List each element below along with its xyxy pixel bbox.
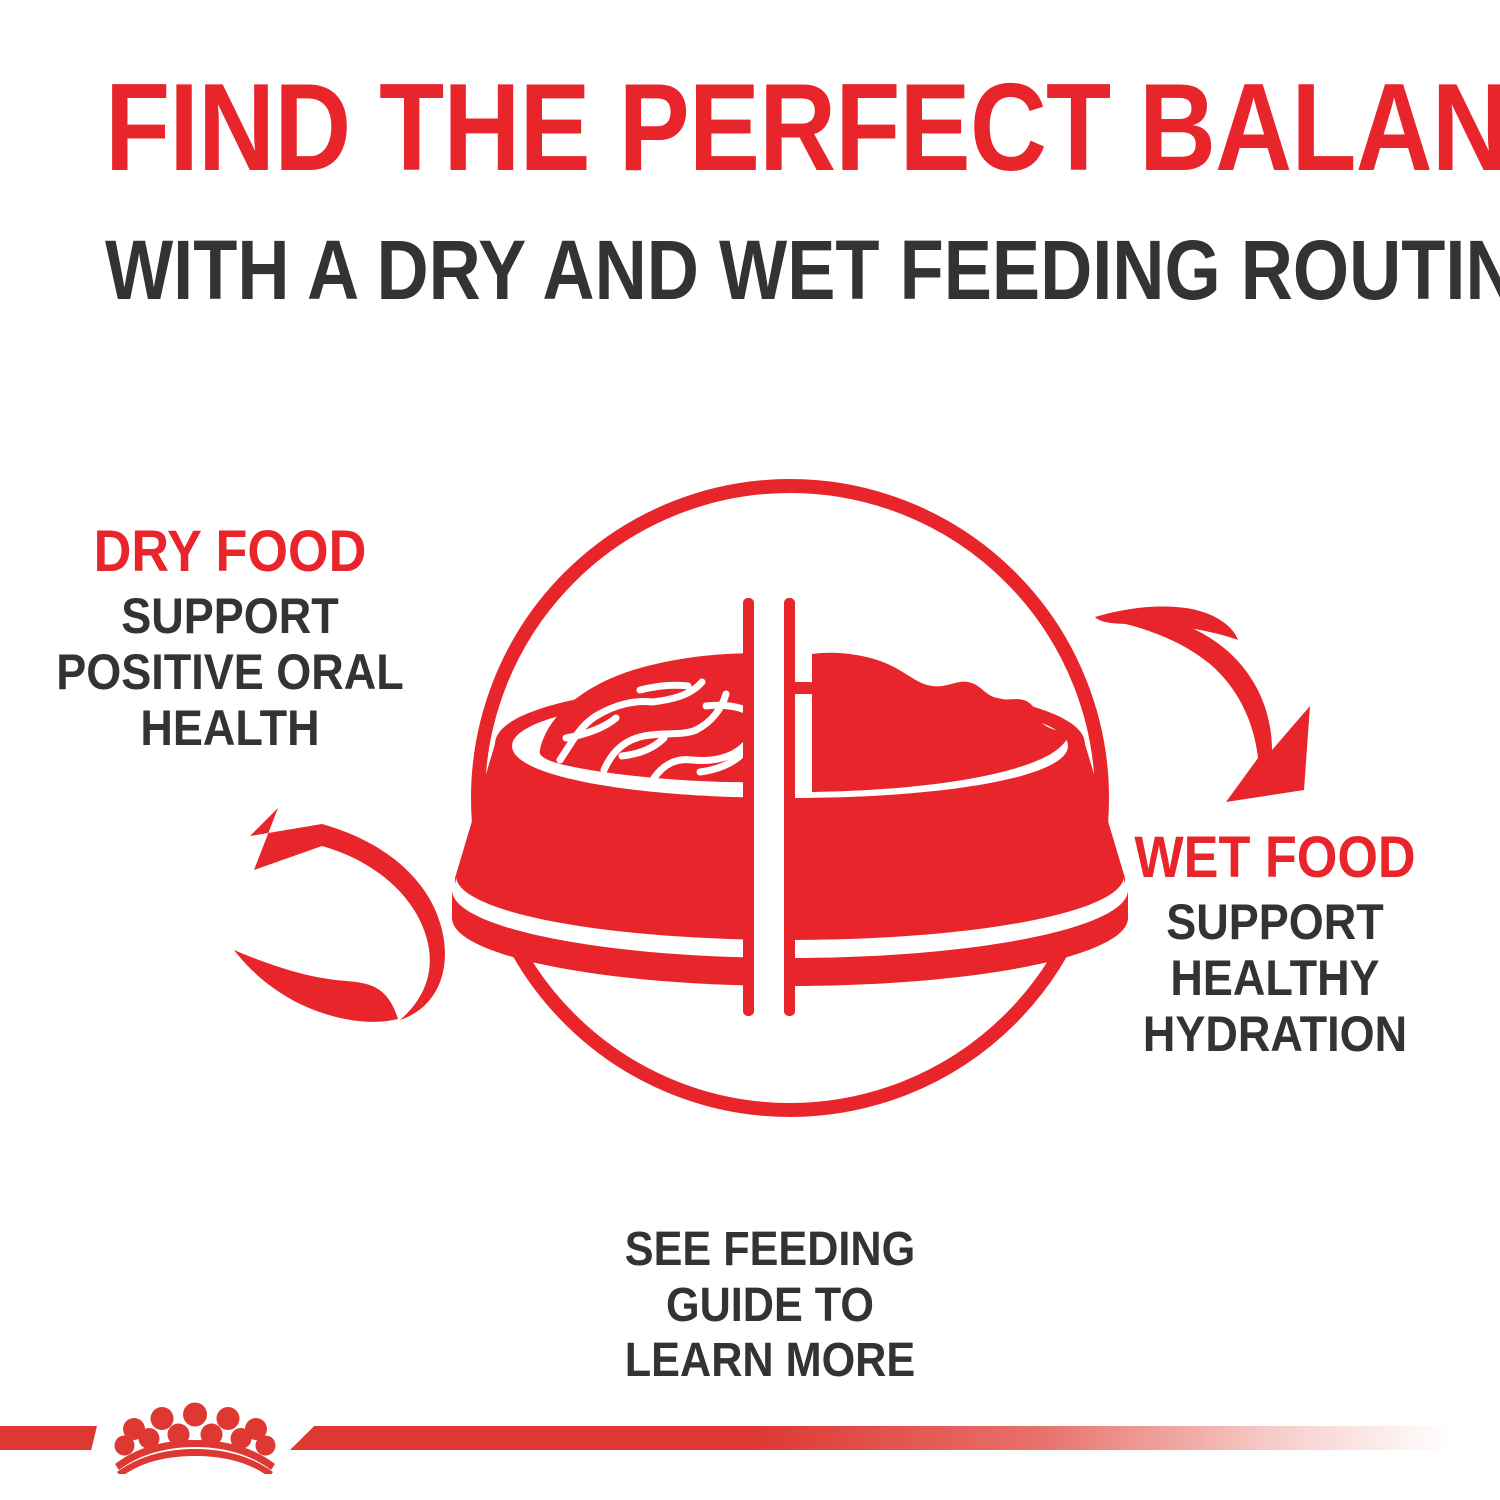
wet-food-fill (812, 653, 1068, 792)
wet-food-line-1: SUPPORT HEALTHY (1082, 894, 1469, 1006)
feeding-guide-note-line-3: LEARN MORE (545, 1333, 995, 1389)
split-food-bowl-icon (452, 598, 1128, 1016)
dry-food-line-1: SUPPORT (41, 588, 419, 644)
dry-food-heading: DRY FOOD (41, 522, 419, 582)
kibble-fill (540, 653, 770, 782)
page-subtitle: WITH A DRY AND WET FEEDING ROUTINE (105, 228, 1395, 312)
feeding-guide-note-line-1: SEE FEEDING (545, 1222, 995, 1278)
dry-food-label-block: DRY FOOD SUPPORT POSITIVE ORAL HEALTH (20, 522, 440, 756)
divider-left-bar-2 (743, 598, 754, 1016)
divider-right-bar (784, 598, 795, 1016)
wet-food-description: SUPPORT HEALTHY HYDRATION (1082, 894, 1469, 1062)
dry-food-line-3: HEALTH (41, 700, 419, 756)
circle-outline-icon (478, 486, 1102, 1110)
divider-right-bar-2 (784, 598, 795, 1016)
divider-left-bar (743, 598, 754, 1016)
dry-food-line-2: POSITIVE ORAL (41, 644, 419, 700)
infographic-canvas: FIND THE PERFECT BALANCE WITH A DRY AND … (0, 0, 1500, 1500)
page-title: FIND THE PERFECT BALANCE (105, 66, 1395, 190)
footer-rule-right (290, 1426, 1500, 1450)
wet-food-line-2: HYDRATION (1082, 1006, 1469, 1062)
footer-brand-bar (0, 1420, 1500, 1456)
feeding-guide-note-line-2: GUIDE TO (545, 1278, 995, 1334)
footer-rule-left (0, 1426, 97, 1450)
dry-food-description: SUPPORT POSITIVE ORAL HEALTH (41, 588, 419, 756)
wet-food-label-block: WET FOOD SUPPORT HEALTHY HYDRATION (1060, 828, 1490, 1062)
royal-canin-crown-icon (105, 1402, 285, 1474)
curved-arrow-down-right-icon (1095, 606, 1310, 802)
curved-arrow-up-left-icon (234, 808, 445, 1022)
feeding-guide-note: SEE FEEDING GUIDE TO LEARN MORE (545, 1222, 995, 1389)
wet-food-heading: WET FOOD (1082, 828, 1469, 888)
